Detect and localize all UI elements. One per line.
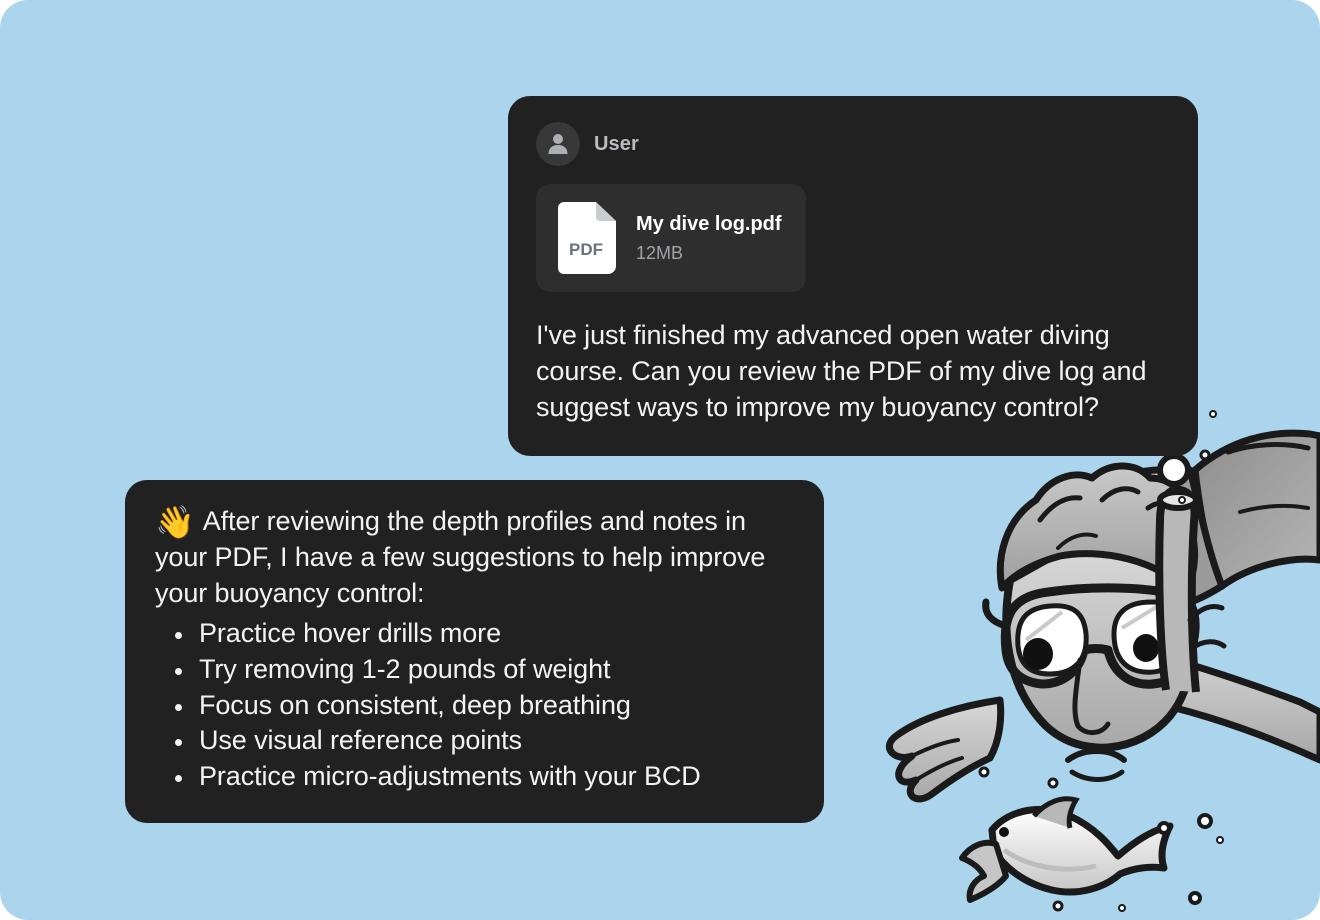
file-size: 12MB	[636, 243, 782, 264]
pdf-file-icon: PDF	[558, 202, 616, 274]
user-message-header: User	[536, 122, 1170, 166]
assistant-message-bubble: 👋After reviewing the depth profiles and …	[125, 480, 824, 823]
suggestion-list: Practice hover drills more Try removing …	[155, 616, 794, 796]
assistant-intro-copy: After reviewing the depth profiles and n…	[155, 506, 765, 608]
list-item: Use visual reference points	[197, 723, 794, 759]
diver-figure	[889, 433, 1320, 799]
list-item: Try removing 1-2 pounds of weight	[197, 652, 794, 688]
list-item: Practice hover drills more	[197, 616, 794, 652]
file-name: My dive log.pdf	[636, 213, 782, 236]
assistant-intro-text: 👋After reviewing the depth profiles and …	[155, 504, 794, 612]
air-bubbles	[980, 391, 1223, 911]
list-item: Practice micro-adjustments with your BCD	[197, 759, 794, 795]
fish-figure	[962, 799, 1170, 900]
screenshot-canvas: User PDF My dive log.pdf 12MB I've just …	[0, 0, 1320, 920]
user-message-bubble: User PDF My dive log.pdf 12MB I've just …	[508, 96, 1198, 456]
file-meta: My dive log.pdf 12MB	[636, 213, 782, 264]
user-avatar-icon	[536, 122, 580, 166]
waving-hand-icon: 👋	[155, 504, 195, 540]
list-item: Focus on consistent, deep breathing	[197, 688, 794, 724]
user-message-text: I've just finished my advanced open wate…	[536, 318, 1170, 426]
file-attachment-card[interactable]: PDF My dive log.pdf 12MB	[536, 184, 806, 292]
user-sender-name: User	[594, 133, 639, 156]
svg-text:PDF: PDF	[569, 240, 603, 259]
